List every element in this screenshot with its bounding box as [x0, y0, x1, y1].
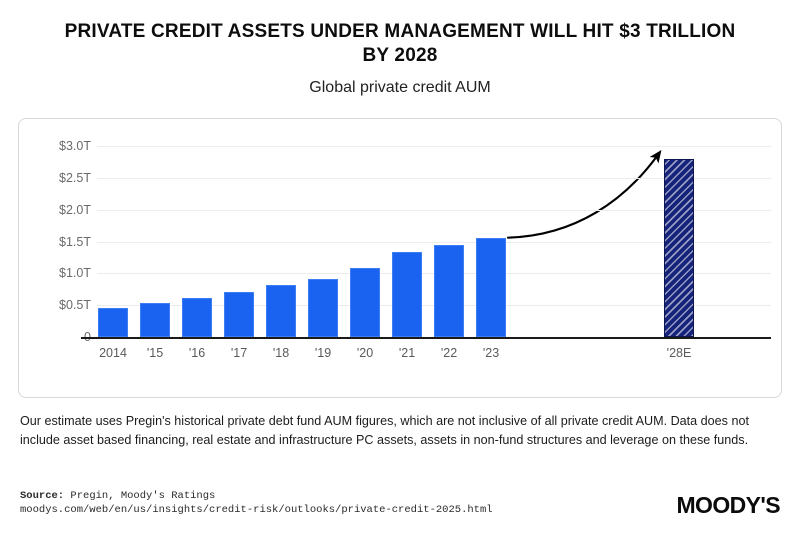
source-url[interactable]: moodys.com/web/en/us/insights/credit-ris…: [20, 503, 493, 517]
chart-card: 0$0.5T$1.0T$1.5T$2.0T$2.5T$3.0T2014'15'1…: [18, 118, 782, 398]
moodys-logo: MOODY'S: [676, 492, 780, 519]
bar[interactable]: [266, 285, 296, 337]
y-axis-tick-label: $1.5T: [39, 235, 91, 249]
x-axis-tick-label: '19: [315, 346, 331, 360]
source-block: Source: Pregin, Moody's Ratings moodys.c…: [20, 489, 493, 517]
x-axis-tick-label: '23: [483, 346, 499, 360]
x-axis-tick-label: '15: [147, 346, 163, 360]
bar[interactable]: [308, 279, 338, 337]
bar[interactable]: [224, 292, 254, 337]
y-axis-tick-label: $2.5T: [39, 171, 91, 185]
x-axis-line: [81, 337, 771, 339]
x-axis-tick-label: '17: [231, 346, 247, 360]
x-axis-tick-label: 2014: [99, 346, 127, 360]
gridline: [97, 146, 771, 147]
x-axis-tick-label: '20: [357, 346, 373, 360]
y-axis-tick-label: $3.0T: [39, 139, 91, 153]
bar[interactable]: [392, 252, 422, 337]
bar[interactable]: [98, 308, 128, 337]
bar[interactable]: [350, 268, 380, 337]
bar[interactable]: [434, 245, 464, 337]
source-value: Pregin, Moody's Ratings: [64, 490, 215, 502]
bar[interactable]: [140, 303, 170, 337]
footnote-text: Our estimate uses Pregin's historical pr…: [20, 412, 780, 450]
page-title: PRIVATE CREDIT ASSETS UNDER MANAGEMENT W…: [0, 20, 800, 68]
x-axis-tick-label: '16: [189, 346, 205, 360]
source-label: Source:: [20, 490, 64, 502]
chart-subtitle: Global private credit AUM: [0, 79, 800, 97]
x-axis-tick-label: '28E: [667, 346, 692, 360]
x-axis-tick-label: '18: [273, 346, 289, 360]
chart-header: PRIVATE CREDIT ASSETS UNDER MANAGEMENT W…: [0, 20, 800, 97]
y-axis-tick-label: $0.5T: [39, 298, 91, 312]
bar[interactable]: [182, 298, 212, 337]
x-axis-tick-label: '22: [441, 346, 457, 360]
x-axis-tick-label: '21: [399, 346, 415, 360]
bar-forecast[interactable]: [664, 159, 694, 337]
y-axis-tick-label: $2.0T: [39, 203, 91, 217]
bar-chart-plot: 0$0.5T$1.0T$1.5T$2.0T$2.5T$3.0T2014'15'1…: [19, 119, 783, 399]
bar[interactable]: [476, 238, 506, 337]
y-axis-tick-label: $1.0T: [39, 266, 91, 280]
